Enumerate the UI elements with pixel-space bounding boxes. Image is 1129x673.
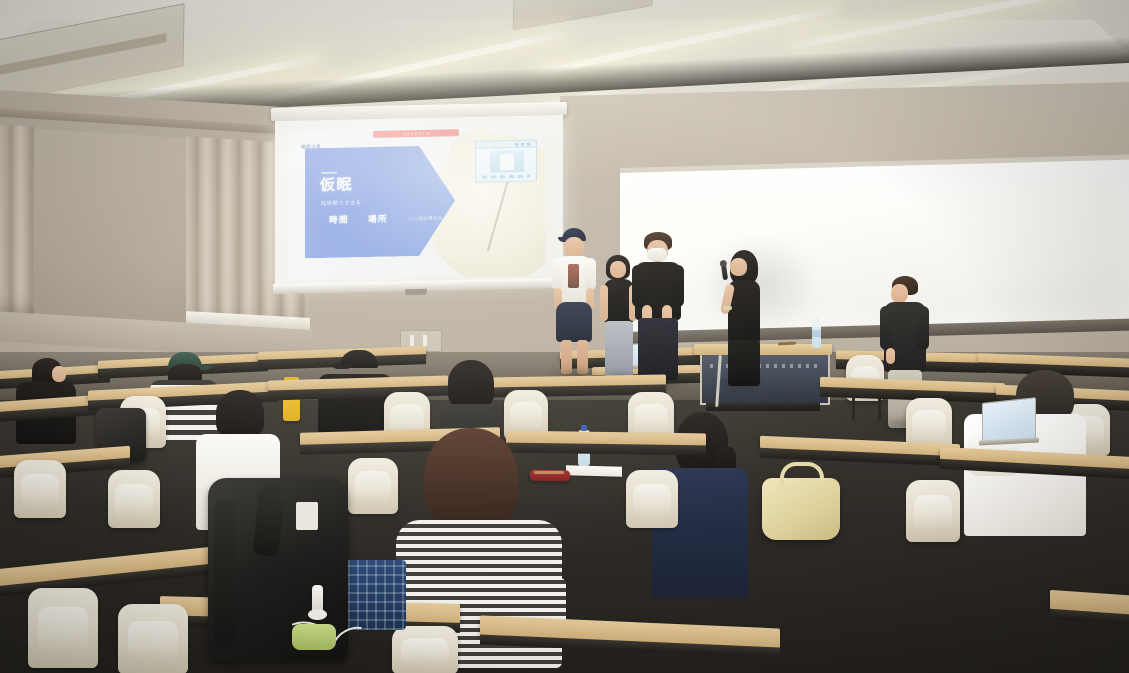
projection-screen: スライド 6 / 15 睡眠の質 仮眠 短時間でできる 時間 場所 いつ何分寝る… [275,115,563,287]
audience-3-hair [216,390,264,438]
desk-row-near-d [1050,590,1129,618]
chair-front-5[interactable] [906,480,960,542]
audience-1-head [52,366,66,382]
presenter-2-head [610,261,626,278]
slide-note: いつ何分寝るか [409,216,443,223]
presenter-1-shirt-graphic [568,264,579,288]
slide-header-label: 睡眠の質 [301,144,321,150]
whiteboard[interactable] [620,159,1129,336]
chair-near-2[interactable] [118,604,188,673]
presenter-3 [632,232,684,384]
presenter-3-trousers [638,318,678,380]
observer-1-arm-right [917,306,929,350]
water-bottle-podium[interactable] [812,321,821,348]
backpack-tag [296,502,318,530]
slide-title: 仮眠 [320,177,353,193]
audience-4-cap-brim [332,364,352,369]
chair-near-lectern-leg [852,398,855,420]
slide-banner-text: スライド 6 / 15 [402,131,430,137]
chair-near-1[interactable] [28,588,98,668]
tote-bag-handle [780,462,824,486]
presenter-1 [552,228,598,378]
inset-window-controls [515,142,533,145]
presenter-1-shorts [556,302,592,342]
backpack-strap-left [214,500,236,648]
lectern-base [706,403,820,411]
inset-caption [482,175,530,179]
chair-front-4[interactable] [626,470,678,528]
inset-image [490,150,524,173]
presenter-4 [718,250,764,385]
chair-front-3[interactable] [348,458,398,514]
presenter-1-arm-right [585,258,596,290]
green-pouch [292,624,336,650]
presenter-1-head [564,237,584,258]
slide-subtitle: 短時間でできる [321,199,361,207]
portable-handheld-fan[interactable] [312,585,323,615]
presenter-1-arm-left [552,258,563,290]
chair-front-2[interactable] [108,470,160,528]
slide-accent-rule [321,172,337,174]
slide-keyword-place: 場所 [368,213,388,225]
audience-6-hair [424,428,518,528]
desk-row-mid-c [486,374,666,388]
presenter-3-face-mask [647,248,667,261]
presenter-4-shadow [714,376,768,389]
beige-tote-bag[interactable] [762,478,840,540]
slide-inset-screenshot [475,140,537,183]
classroom-scene: スライド 6 / 15 睡眠の質 仮眠 短時間でできる 時間 場所 いつ何分寝る… [0,0,1129,673]
handout-paper[interactable] [566,465,622,476]
handheld-microphone[interactable] [721,264,728,281]
presenter-2-jeans [605,321,633,379]
presenter-2-arm-left [600,285,608,321]
presenter-4-head [730,258,747,276]
curtain-panel-left [0,125,34,323]
presenter-3-arm-right [671,265,684,307]
projected-slide: スライド 6 / 15 睡眠の質 仮眠 短時間でできる 時間 場所 いつ何分寝る… [289,125,545,280]
presenter-3-arm-left [632,265,645,307]
observer-1-head [891,284,908,303]
observer-1-hand [886,348,895,364]
observer-1-arm-left [880,306,892,350]
audience-5-hair [448,360,494,408]
screen-weight-bar [405,289,427,295]
projection-screen-assembly: スライド 6 / 15 睡眠の質 仮眠 短時間でできる 時間 場所 いつ何分寝る… [275,105,563,300]
slide-keyword-time: 時間 [329,213,349,225]
presenter-4-wristwatch [723,306,732,310]
chair-front-1[interactable] [14,460,66,518]
chair-near-3[interactable] [392,626,458,673]
